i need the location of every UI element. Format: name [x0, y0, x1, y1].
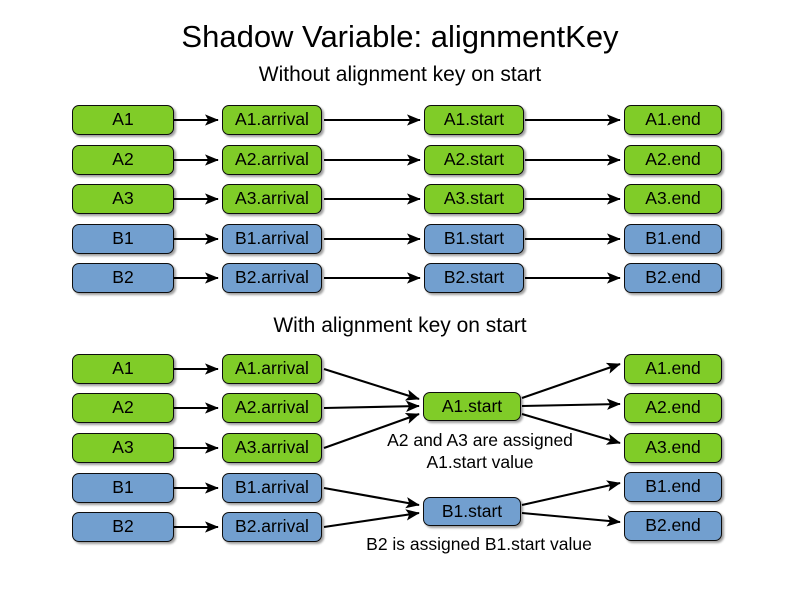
node-a1-start[interactable]: A1.start: [424, 105, 524, 135]
node-entity-b1[interactable]: B1: [72, 224, 174, 254]
node2-entity-b1[interactable]: B1: [72, 473, 174, 503]
node2-b2-end[interactable]: B2.end: [624, 511, 722, 541]
node2-shared-a1-start[interactable]: A1.start: [423, 392, 521, 421]
note-b-alignment: B2 is assigned B1.start value: [348, 533, 610, 555]
node-entity-a1[interactable]: A1: [72, 105, 174, 135]
node2-b1-arrival[interactable]: B1.arrival: [222, 473, 322, 503]
node2-a3-arrival[interactable]: A3.arrival: [222, 433, 322, 463]
node-a3-end[interactable]: A3.end: [624, 184, 722, 214]
node-a2-arrival[interactable]: A2.arrival: [222, 145, 322, 175]
node-entity-a3[interactable]: A3: [72, 184, 174, 214]
node-a3-arrival[interactable]: A3.arrival: [222, 184, 322, 214]
node-a2-start[interactable]: A2.start: [424, 145, 524, 175]
node-b2-end[interactable]: B2.end: [624, 263, 722, 293]
node-b2-start[interactable]: B2.start: [424, 263, 524, 293]
node-entity-a2[interactable]: A2: [72, 145, 174, 175]
node-entity-b2[interactable]: B2: [72, 263, 174, 293]
node2-entity-a3[interactable]: A3: [72, 433, 174, 463]
note-a-alignment: A2 and A3 are assigned A1.start value: [355, 429, 605, 473]
node2-a1-end[interactable]: A1.end: [624, 354, 722, 384]
node2-entity-a2[interactable]: A2: [72, 393, 174, 423]
node-b1-arrival[interactable]: B1.arrival: [222, 224, 322, 254]
node2-a1-arrival[interactable]: A1.arrival: [222, 354, 322, 384]
node2-a2-end[interactable]: A2.end: [624, 393, 722, 423]
node-a1-end[interactable]: A1.end: [624, 105, 722, 135]
node2-entity-b2[interactable]: B2: [72, 512, 174, 542]
node-b1-end[interactable]: B1.end: [624, 224, 722, 254]
node-a3-start[interactable]: A3.start: [424, 184, 524, 214]
diagram-canvas: Shadow Variable: alignmentKey Without al…: [0, 0, 800, 600]
node2-a2-arrival[interactable]: A2.arrival: [222, 393, 322, 423]
node-a2-end[interactable]: A2.end: [624, 145, 722, 175]
arrow-layer: [0, 0, 800, 600]
node2-a3-end[interactable]: A3.end: [624, 433, 722, 463]
section-heading-with-alignment-key: With alignment key on start: [0, 313, 800, 339]
node-b2-arrival[interactable]: B2.arrival: [222, 263, 322, 293]
page-title: Shadow Variable: alignmentKey: [0, 18, 800, 56]
node-b1-start[interactable]: B1.start: [424, 224, 524, 254]
node2-b2-arrival[interactable]: B2.arrival: [222, 512, 322, 542]
node2-shared-b1-start[interactable]: B1.start: [423, 497, 521, 526]
node-a1-arrival[interactable]: A1.arrival: [222, 105, 322, 135]
section-heading-without-alignment-key: Without alignment key on start: [0, 62, 800, 88]
node2-b1-end[interactable]: B1.end: [624, 472, 722, 502]
node2-entity-a1[interactable]: A1: [72, 354, 174, 384]
